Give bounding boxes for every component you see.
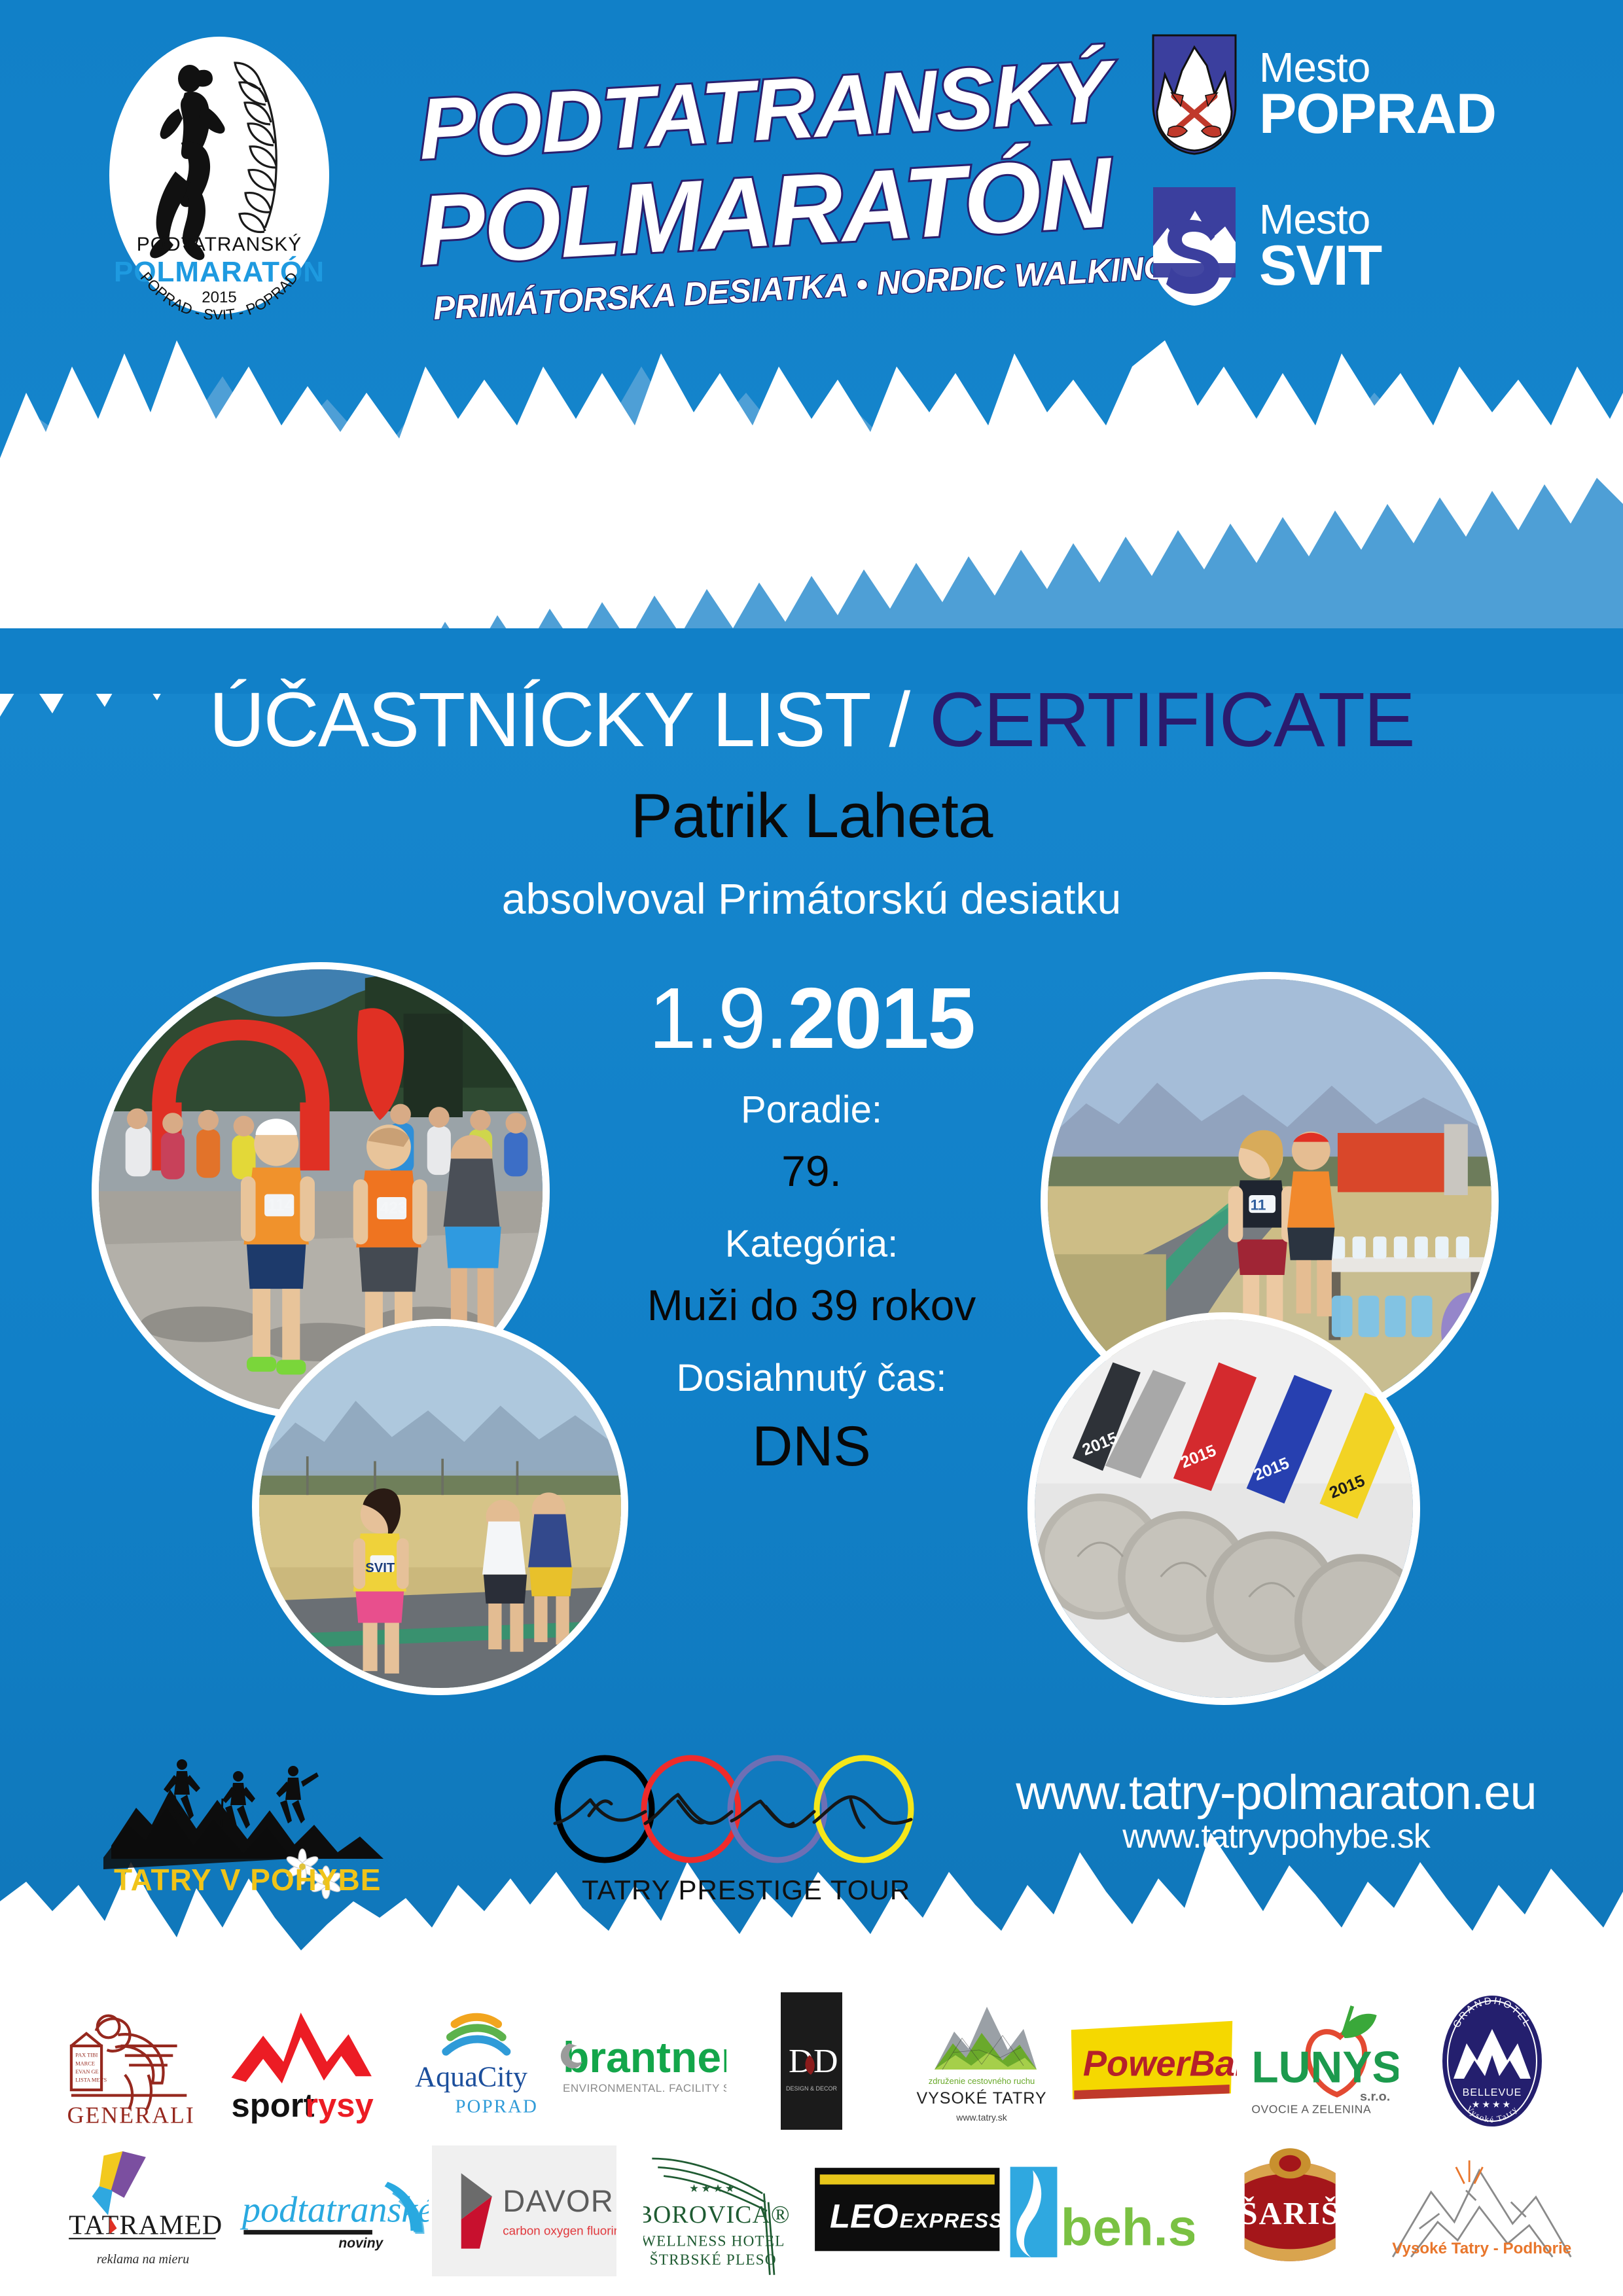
url-secondary[interactable]: www.tatryvpohybe.sk xyxy=(962,1818,1590,1856)
athlete-name: Patrik Laheta xyxy=(0,780,1623,852)
svg-text:★★★★: ★★★★ xyxy=(689,2182,737,2195)
prestige-ring-black xyxy=(558,1758,652,1860)
category-label: Kategória: xyxy=(484,1222,1139,1266)
sponsor-podhorie-label: Vysoké Tatry - Podhorie xyxy=(1392,2240,1571,2257)
poprad-crest-icon xyxy=(1152,34,1237,155)
sponsor-grandhotel-bellevue: GRANDHOTEL BELLEVUE ★★★★ Vysoké Tatry xyxy=(1407,1992,1577,2130)
svg-text:rysy: rysy xyxy=(306,2087,374,2124)
sponsor-lunys-label: LUNYS xyxy=(1252,2043,1399,2092)
sponsor-band: PAX TIBIMARCE EVAN GELISTA MEVS GENERALI… xyxy=(0,1970,1623,2296)
svg-text:423: 423 xyxy=(380,1199,406,1217)
svg-text:SVIT: SVIT xyxy=(365,1561,395,1575)
svg-text:EVAN GE: EVAN GE xyxy=(75,2069,98,2075)
svg-text:LISTA MEVS: LISTA MEVS xyxy=(75,2077,107,2083)
tatry-prestige-tour-logo: TATRY PRESTIGE TOUR xyxy=(550,1754,942,1918)
tatry-prestige-tour-label: TATRY PRESTIGE TOUR xyxy=(582,1874,910,1905)
svg-text:114: 114 xyxy=(268,1196,294,1214)
prestige-ring-blue xyxy=(730,1758,825,1860)
sponsor-tatramedia: TATRAMEDIA reklama na mieru xyxy=(46,2145,238,2276)
photo-medals: 2015 2015 2015 2015 xyxy=(1027,1312,1420,1705)
sponsor-brantner-tagline: ENVIRONMENTAL. FACILITY SERVICES xyxy=(563,2082,726,2094)
sponsor-borovica-sub1: WELLNESS HOTEL xyxy=(643,2233,785,2250)
svg-text:DESIGN & DECOR: DESIGN & DECOR xyxy=(786,2085,838,2092)
sponsor-leo-label: LEO xyxy=(830,2197,899,2234)
svg-text:sport: sport xyxy=(232,2087,315,2124)
sponsor-vysoke-tatry-label: VYSOKÉ TATRY xyxy=(916,2089,1046,2108)
sponsor-aquacity-label: AquaCity xyxy=(415,2061,527,2093)
sponsor-borovica-sub2: ŠTRBSKÉ PLESO xyxy=(649,2251,776,2269)
sponsor-podtatranske-noviny: podtatranské noviny xyxy=(238,2145,429,2276)
sponsor-borovica: ★★★★ BOROVICA® WELLNESS HOTEL ŠTRBSKÉ PL… xyxy=(620,2145,812,2276)
partner-svit: Mesto SVIT xyxy=(1152,186,1382,307)
sponsor-powerbar-label: PowerBar. xyxy=(1083,2045,1237,2084)
certificate-page: PODTATRANSKÝ POLMARATÓN 2015 POPRAD - SV… xyxy=(0,0,1623,2296)
sponsor-aquacity: AquaCity POPRAD xyxy=(386,1992,556,2130)
sponsor-powerbar: PowerBar. xyxy=(1067,1992,1237,2130)
sponsor-vysoke-tatry-podhorie: Vysoké Tatry - Podhorie xyxy=(1386,2145,1578,2276)
svg-text:★★★★: ★★★★ xyxy=(1472,2099,1512,2109)
sponsor-dd-design: D D DESIGN & DECOR xyxy=(726,1992,897,2130)
svg-text:D: D xyxy=(813,2043,838,2080)
sponsor-saris-label: ŠARIŠ xyxy=(1240,2196,1340,2231)
page-header: PODTATRANSKÝ POLMARATÓN 2015 POPRAD - SV… xyxy=(0,0,1623,347)
partner-svit-name: SVIT xyxy=(1259,240,1382,293)
sponsor-row-2: TATRAMEDIA reklama na mieru podtatranské… xyxy=(0,2145,1623,2276)
event-title-block: PODTATRANSKÝ POLMARATÓN PRIMÁTORSKA DESI… xyxy=(419,46,1126,321)
sponsor-sportrysy: sport rysy xyxy=(216,1992,386,2130)
partner-svit-prefix: Mesto xyxy=(1259,200,1382,240)
sponsor-behsk-label: beh.sk xyxy=(1060,2198,1194,2256)
sponsor-vysoke-tatry: združenie cestovného ruchu VYSOKÉ TATRY … xyxy=(897,1992,1067,2130)
page-title-en: CERTIFICATE xyxy=(929,677,1414,763)
sponsor-tatramedia-label: TATRAMEDIA xyxy=(69,2210,221,2241)
partner-poprad-name: POPRAD xyxy=(1259,88,1496,141)
category-value: Muži do 39 rokov xyxy=(484,1280,1139,1330)
svg-text:MARCE: MARCE xyxy=(75,2060,95,2066)
sponsor-row-1: PAX TIBIMARCE EVAN GELISTA MEVS GENERALI… xyxy=(0,1992,1623,2130)
sponsor-behsk: beh.sk xyxy=(1003,2145,1195,2276)
sponsor-brantner: brantner ENVIRONMENTAL. FACILITY SERVICE… xyxy=(556,1992,726,2130)
sponsor-noviny-label: noviny xyxy=(338,2236,383,2251)
sponsor-aquacity-sub: POPRAD xyxy=(455,2096,538,2117)
svg-text:PAX TIBI: PAX TIBI xyxy=(75,2053,98,2058)
emblem-top-text: PODTATRANSKÝ xyxy=(137,234,302,255)
page-title-separator: / xyxy=(869,677,929,763)
race-date-day-month: 1.9. xyxy=(649,970,787,1066)
svg-text:11: 11 xyxy=(1251,1197,1266,1213)
sponsor-brantner-label: brantner xyxy=(563,2033,726,2081)
tatry-v-pohybe-logo: TATRY V POHYBE xyxy=(98,1748,452,1911)
sponsor-borovica-label: BOROVICA® xyxy=(643,2201,789,2229)
sponsor-tatramedia-tagline: reklama na mieru xyxy=(97,2252,189,2267)
svit-crest-icon xyxy=(1152,186,1237,307)
partner-poprad-prefix: Mesto xyxy=(1259,48,1496,88)
race-date-year: 2015 xyxy=(787,970,974,1066)
url-primary[interactable]: www.tatry-polmaraton.eu xyxy=(962,1767,1590,1818)
sponsor-generali-label: GENERALI xyxy=(67,2102,194,2128)
photo-runners-field: SVIT xyxy=(252,1319,628,1695)
sponsor-bellevue-label: BELLEVUE xyxy=(1463,2087,1522,2098)
sponsor-saris: ŠARIŠ xyxy=(1194,2145,1386,2276)
page-title: ÚČASTNÍCKY LIST / CERTIFICATE xyxy=(0,675,1623,764)
achievement-text: absolvoval Primátorskú desiatku xyxy=(0,874,1623,924)
tatry-v-pohybe-label: TATRY V POHYBE xyxy=(114,1863,381,1897)
sponsor-vysoke-tatry-url: www.tatry.sk xyxy=(955,2112,1008,2123)
sponsor-davorin-tagline: carbon oxygen fluorine xyxy=(503,2223,616,2237)
sponsor-vysoke-tatry-tagline: združenie cestovného ruchu xyxy=(929,2076,1035,2086)
race-date: 1.9.2015 xyxy=(484,975,1139,1062)
sponsor-davorin-label: DAVORIN xyxy=(503,2183,616,2218)
generali-lion-logo: PAX TIBIMARCE EVAN GELISTA MEVS GENERALI xyxy=(59,1992,204,2130)
sponsor-davorin: DAVORIN carbon oxygen fluorine xyxy=(429,2145,620,2276)
sponsor-generali: PAX TIBIMARCE EVAN GELISTA MEVS GENERALI xyxy=(46,1992,216,2130)
sponsor-lunys-tagline: OVOCIE A ZELENINA xyxy=(1252,2102,1372,2115)
city-partner-logos: Mesto POPRAD Mesto SVIT xyxy=(1152,34,1610,322)
website-urls: www.tatry-polmaraton.eu www.tatryvpohybe… xyxy=(962,1767,1590,1856)
partner-poprad: Mesto POPRAD xyxy=(1152,34,1496,155)
page-title-sk: ÚČASTNÍCKY LIST xyxy=(209,677,868,763)
event-emblem-icon: PODTATRANSKÝ POLMARATÓN 2015 POPRAD - SV… xyxy=(92,31,347,319)
sponsor-leo-express: LEO EXPRESS xyxy=(811,2145,1003,2276)
sponsor-lunys: LUNYS s.r.o. OVOCIE A ZELENINA xyxy=(1237,1992,1407,2130)
emblem-year: 2015 xyxy=(202,289,236,306)
mountain-band-upper xyxy=(0,340,1623,717)
rank-label: Poradie: xyxy=(484,1088,1139,1132)
sponsor-express-label: EXPRESS xyxy=(900,2208,1003,2232)
